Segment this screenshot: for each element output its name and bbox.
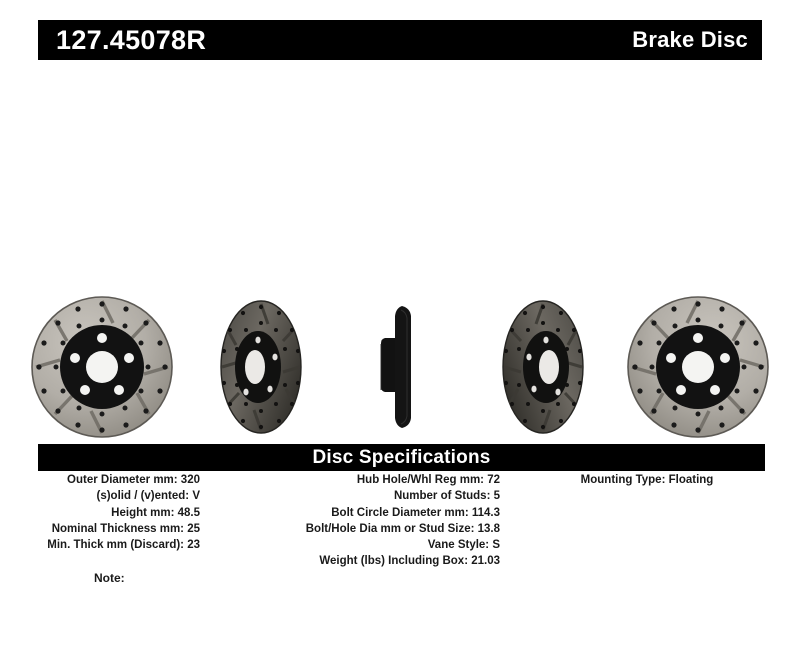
spec-hub-hole: Hub Hole/Whl Reg mm: 72 [214, 472, 500, 488]
rotor-edge-profile-icon [372, 304, 424, 430]
rotor-front-face-left-icon [27, 292, 177, 442]
note-label: Note: [94, 571, 125, 585]
rotor-angled-left-icon [201, 297, 321, 437]
spec-mounting-type: Mounting Type: Floating [512, 472, 782, 488]
product-image-strip [0, 292, 800, 442]
rotor-front-face-right [618, 292, 778, 442]
spec-bolt-circle-diameter: Bolt Circle Diameter mm: 114.3 [214, 505, 500, 521]
specifications-table: Outer Diameter mm: 320 (s)olid / (v)ente… [0, 472, 800, 582]
note-row: Note: [94, 569, 125, 587]
spec-nominal-thickness: Nominal Thickness mm: 25 [20, 521, 200, 537]
spec-outer-diameter: Outer Diameter mm: 320 [20, 472, 200, 488]
header-bar: 127.45078R Brake Disc [38, 20, 762, 60]
rotor-front-face-right-icon [623, 292, 773, 442]
spec-column-left: Outer Diameter mm: 320 (s)olid / (v)ente… [20, 472, 200, 553]
rotor-angled-left [196, 292, 326, 442]
disc-specifications-bar: Disc Specifications [38, 444, 765, 471]
part-number: 127.45078R [56, 27, 206, 54]
spec-min-thickness: Min. Thick mm (Discard): 23 [20, 537, 200, 553]
spec-height: Height mm: 48.5 [20, 505, 200, 521]
rotor-front-face-left [22, 292, 182, 442]
spec-vane-style: Vane Style: S [214, 537, 500, 553]
spec-solid-vented: (s)olid / (v)ented: V [20, 488, 200, 504]
spec-number-of-studs: Number of Studs: 5 [214, 488, 500, 504]
rotor-angled-right-icon [483, 297, 603, 437]
rotor-angled-right [478, 292, 608, 442]
spec-column-middle: Hub Hole/Whl Reg mm: 72 Number of Studs:… [214, 472, 500, 570]
spec-weight: Weight (lbs) Including Box: 21.03 [214, 553, 500, 569]
spec-bolt-hole-dia: Bolt/Hole Dia mm or Stud Size: 13.8 [214, 521, 500, 537]
spec-column-right: Mounting Type: Floating [512, 472, 782, 488]
rotor-edge-profile [352, 292, 444, 442]
disc-specifications-title: Disc Specifications [312, 448, 490, 467]
product-type-title: Brake Disc [632, 29, 748, 51]
